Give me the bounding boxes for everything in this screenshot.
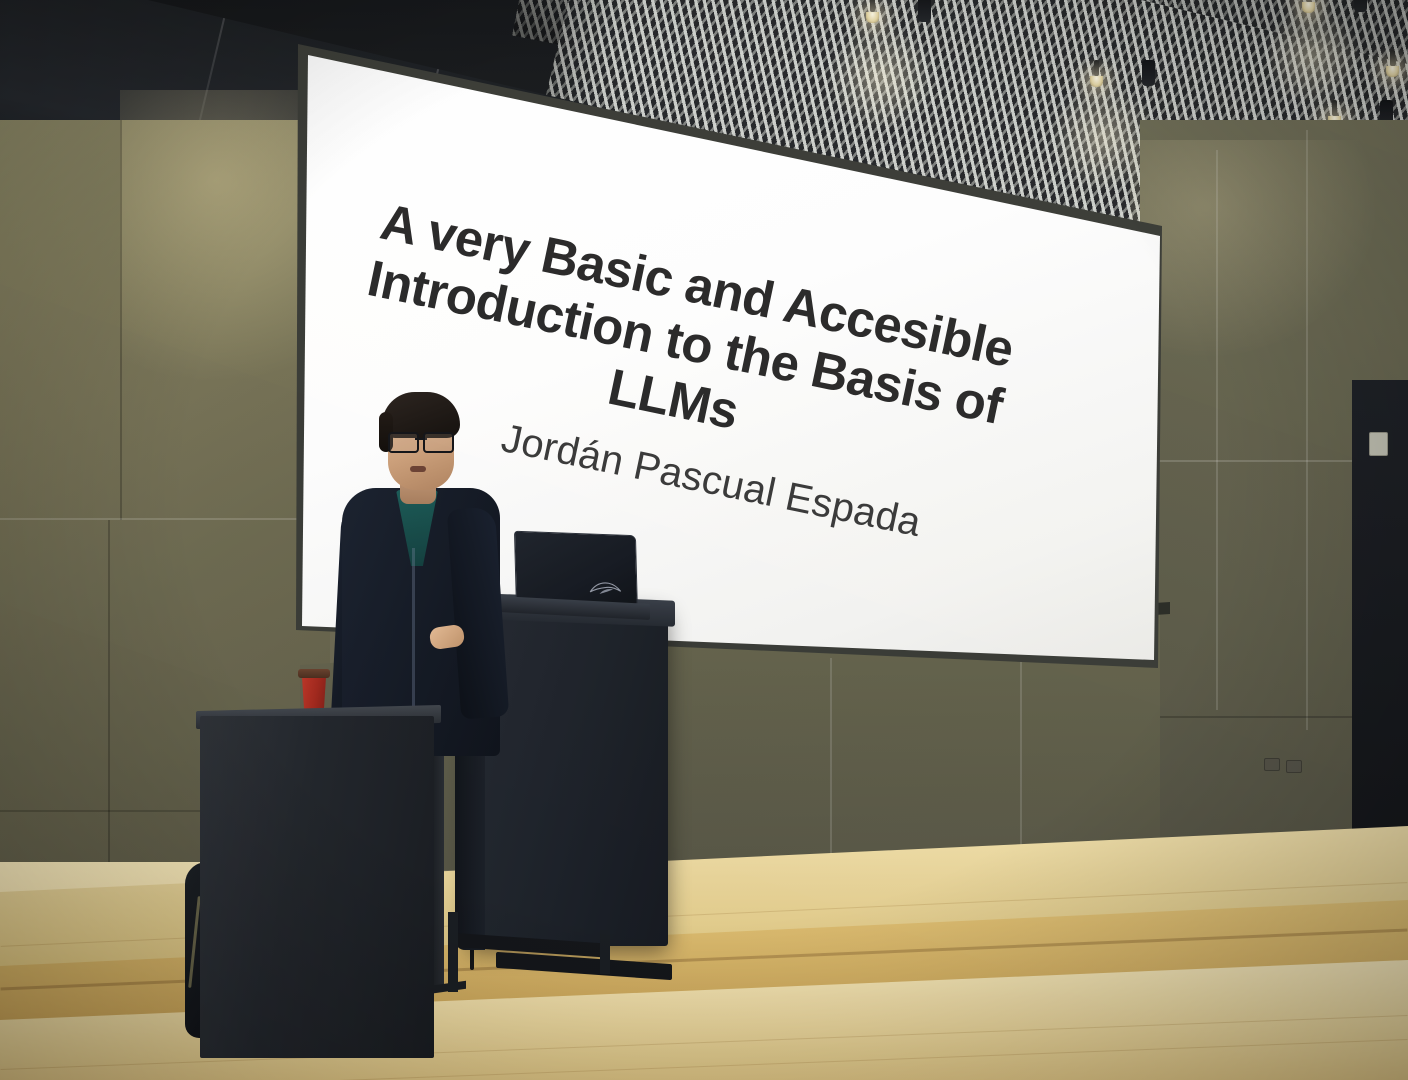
wall-seam [0,518,330,520]
wall-mounted-device [1369,432,1388,456]
wall-seam [120,120,122,520]
rog-logo-icon [588,580,622,597]
spotlight-lens [1302,2,1315,13]
backpack-zipper [188,896,201,988]
glasses-icon [388,432,454,449]
spotlight-arm [870,0,875,12]
spotlight-arm [1094,60,1099,76]
spotlight-lens [866,12,879,23]
side-table [200,716,434,1058]
spotlight-head [1354,0,1367,12]
wall-outlet [1286,760,1302,773]
speaker-person [336,398,536,758]
wall-outlet [1264,758,1280,771]
ceiling-spotlight [1302,0,1315,13]
wall-seam [1020,646,1022,870]
spotlight-arm [1332,100,1337,116]
podium-base-leg [600,930,610,974]
podium-base-leg [448,912,458,992]
spotlight-lens [1090,76,1103,87]
glasses-right-lens [423,432,454,453]
speaker-mouth [410,466,426,472]
glasses-left-lens [388,432,419,453]
ceiling-spotlight [1386,50,1399,77]
spotlight-arm [1390,50,1395,66]
spotlight-head [918,0,931,22]
spotlight-head [1142,60,1155,86]
ceiling-spotlight [1090,60,1103,87]
coffee-cup-lid [298,669,330,678]
ceiling-spotlight [866,0,879,23]
wall-seam [1216,150,1218,710]
wall-seam [1306,130,1308,730]
wall-light-spill [1130,140,1380,360]
wall-seam [830,658,832,870]
speaker-zipper [412,548,415,728]
wall-seam [108,520,110,910]
photo-scene: A very Basic and Accesible Introduction … [0,0,1408,1080]
spotlight-lens [1386,66,1399,77]
